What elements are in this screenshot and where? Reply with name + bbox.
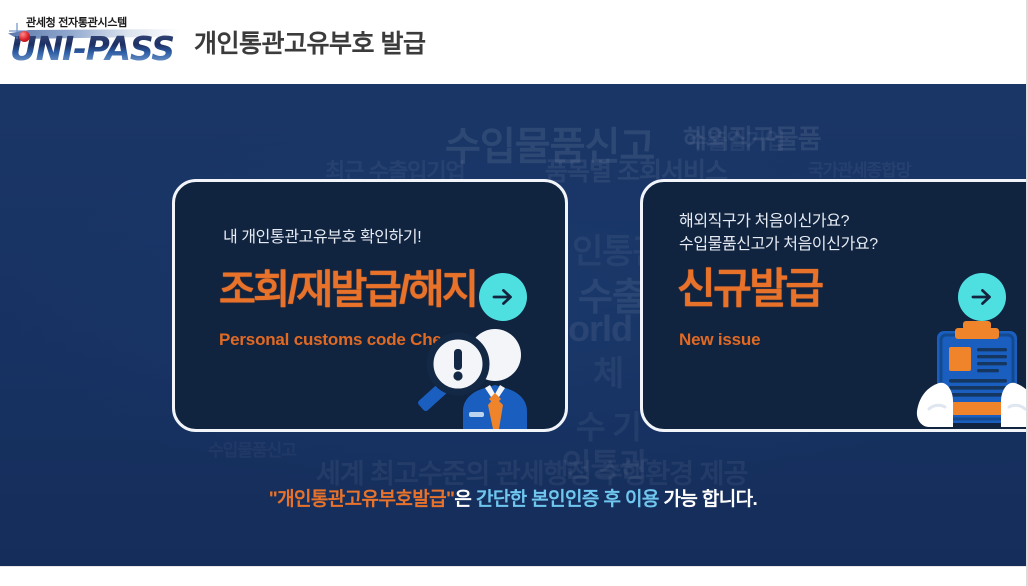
card-title-new-issue: 신규발급 [677,268,822,310]
clipboard-in-hands-icon [913,317,1026,429]
logo-wordmark: UNI-PASS [10,32,174,65]
footnote-quoted: "개인통관고유부호발급" [269,489,455,510]
footnote-tail: 가능 합니다. [663,489,757,510]
unipass-logo[interactable]: 관세청 전자통관시스템 UNI-PASS [6,10,181,74]
footnote-text: "개인통관고유부호발급"은 간단한 본인인증 후 이용 가능 합니다. [0,484,1026,511]
page-title: 개인통관고유부호 발급 [194,24,425,60]
footnote-particle: 은 [454,489,471,510]
bottom-strip [0,566,1026,586]
card-title-check: 조회/재발급/해지 [219,270,476,310]
card-question-new-issue: 해외직구가 처음이신가요? 수입물품신고가 처음이신가요? [679,210,878,256]
card-subtitle-new-issue: New issue [679,330,760,350]
footnote-highlight: 간단한 본인인증 후 이용 [471,489,663,510]
page-header: 관세청 전자통관시스템 UNI-PASS 개인통관고유부호 발급 [0,0,1026,84]
card-question-check: 내 개인통관고유부호 확인하기! [223,226,421,249]
page-root: 관세청 전자통관시스템 UNI-PASS 개인통관고유부호 발급 수입물품신고수… [0,0,1028,586]
arrow-right-icon[interactable] [479,273,527,321]
logo-subtitle: 관세청 전자통관시스템 [26,14,127,30]
hero-section: 수입물품신고수출입기업해외직구물품최근 수출입기업품목별 조회서비스국가관세종합… [0,84,1026,566]
person-magnifier-alert-icon [407,319,557,429]
card-personal-code-check[interactable]: 내 개인통관고유부호 확인하기! 조회/재발급/해지 Personal cust… [172,179,568,432]
arrow-right-icon[interactable] [958,273,1006,321]
logo-red-dot-icon [19,31,30,42]
card-new-issue[interactable]: 해외직구가 처음이신가요? 수입물품신고가 처음이신가요? 신규발급 New i… [640,179,1026,432]
